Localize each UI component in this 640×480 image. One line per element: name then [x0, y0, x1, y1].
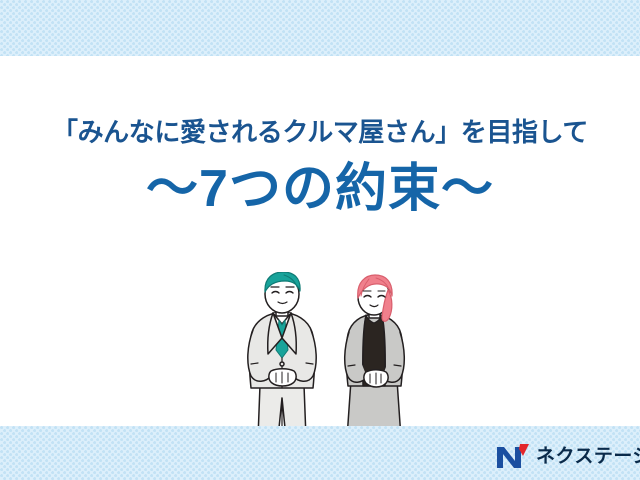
- slide-canvas: 「みんなに愛されるクルマ屋さん」を目指して 〜7つの約束〜: [0, 0, 640, 480]
- staff-illustration: [238, 272, 428, 438]
- male-staff-figure: [248, 272, 316, 438]
- staff-illustration-svg: [238, 272, 428, 438]
- headline-block: 「みんなに愛されるクルマ屋さん」を目指して 〜7つの約束〜: [0, 118, 640, 218]
- female-staff-figure: [345, 275, 405, 438]
- nextage-n-mark-icon: [496, 443, 530, 469]
- headline-line-2: 〜7つの約束〜: [0, 160, 640, 218]
- top-dotted-band: [0, 0, 640, 56]
- brand-logo: ネクステージ: [496, 440, 640, 472]
- brand-logo-text: ネクステージ: [536, 447, 640, 466]
- headline-line-1: 「みんなに愛されるクルマ屋さん」を目指して: [0, 118, 640, 148]
